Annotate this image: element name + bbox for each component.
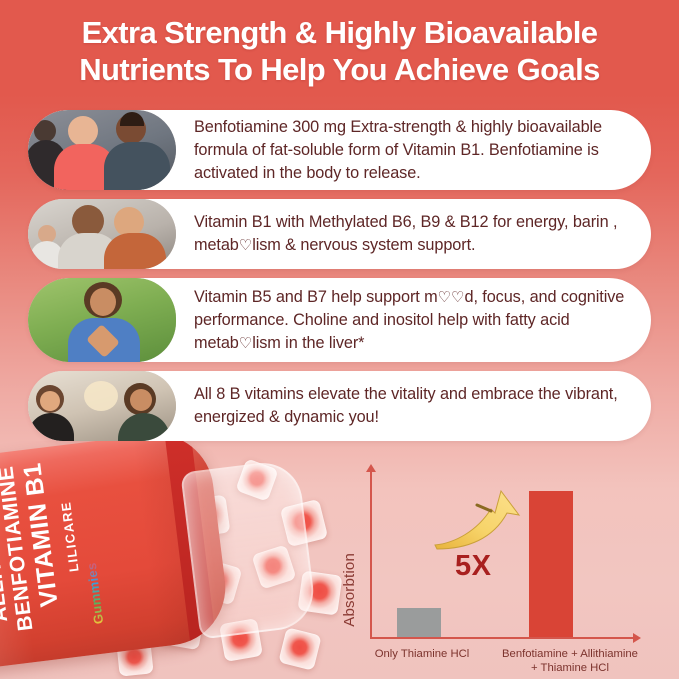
benefit-text-part-3: lism in the liver* [252, 334, 364, 352]
chart-x-label-thiamine-hcl: Only Thiamine HCl [357, 647, 487, 661]
benefit-text: Vitamin B5 and B7 help support m♡♡d, foc… [176, 278, 651, 362]
chart-y-axis [370, 471, 372, 639]
chart-multiplier-annotation: 5X [455, 550, 491, 583]
upward-curved-arrow-icon [433, 489, 525, 551]
benefit-text: Vitamin B1 with Methylated B6, B9 & B12 … [176, 199, 651, 269]
chart-bar-benfotiamine-blend [529, 491, 573, 637]
infographic-page: Extra Strength & Highly Bioavailable Nut… [0, 0, 679, 679]
benefit-text-part-2: lism & nervous system support. [252, 236, 475, 254]
chart-x-label-line-2: + Thiamine HCl [485, 661, 655, 675]
product-bottle-image: VITAMIN B1 BENFOTIAMINE ALLITHIAMINE LIL… [0, 441, 354, 679]
heart-icon: ♡ [438, 289, 451, 306]
benefit-card: Vitamin B1 with Methylated B6, B9 & B12 … [28, 199, 651, 269]
benefit-card-list: Benfotiamine 300 mg Extra-strength & hig… [28, 110, 651, 450]
benefit-photo-celebrating-women [28, 371, 176, 441]
absorption-bar-chart: Absorbtion 5X Only Thiamine HCl Benf [337, 453, 667, 679]
benefit-card: Vitamin B5 and B7 help support m♡♡d, foc… [28, 278, 651, 362]
bottle-clear-neck [180, 458, 318, 639]
heart-icon: ♡ [239, 335, 252, 352]
headline-line-2: Nutrients To Help You Achieve Goals [14, 51, 665, 88]
benefit-text-part-1: Vitamin B5 and B7 help support m [194, 288, 438, 306]
chart-x-label-benfotiamine-blend: Benfotiamine + Allithiamine + Thiamine H… [485, 647, 655, 675]
benefit-text: Benfotiamine 300 mg Extra-strength & hig… [176, 110, 651, 190]
benefit-text: All 8 B vitamins elevate the vitality an… [176, 371, 651, 441]
chart-y-axis-label: Absorbtion [341, 553, 358, 627]
heart-icon: ♡ [451, 289, 464, 306]
benefit-card: All 8 B vitamins elevate the vitality an… [28, 371, 651, 441]
benefit-card: Benfotiamine 300 mg Extra-strength & hig… [28, 110, 651, 190]
heart-icon: ♡ [239, 237, 252, 254]
benefit-photo-gym-women [28, 110, 176, 190]
headline-line-1: Extra Strength & Highly Bioavailable [14, 14, 665, 51]
chart-bar-thiamine-hcl [397, 608, 441, 637]
benefit-photo-office-women [28, 199, 176, 269]
chart-x-axis [370, 637, 634, 639]
benefit-photo-nurse-heart-hands [28, 278, 176, 362]
page-title: Extra Strength & Highly Bioavailable Nut… [0, 14, 679, 88]
chart-x-label-line-1: Benfotiamine + Allithiamine [485, 647, 655, 661]
